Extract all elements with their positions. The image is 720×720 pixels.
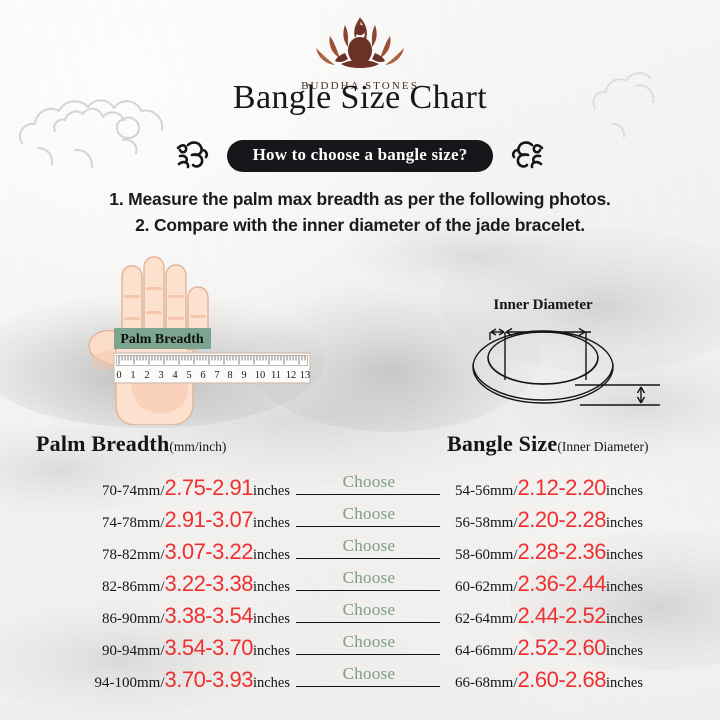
table-row: 56-58mm/2.20-2.28inches [447,504,717,536]
mm-range: 66-68mm/ [455,675,518,692]
choose-selector[interactable]: Choose [296,472,442,504]
size-label: 86-90mm/3.38-3.54inches [22,605,290,628]
mm-range: 74-78mm/ [102,515,165,532]
mm-range: 82-86mm/ [102,579,165,596]
choose-selector[interactable]: Choose [296,504,442,536]
inch-unit: inches [253,579,290,596]
bangle-size-header: Bangle Size(Inner Diameter) [447,431,648,457]
svg-text:Palm Breadth: Palm Breadth [120,332,204,347]
svg-text:14: 14 [314,370,315,381]
inch-range: 2.44-2.52 [518,605,606,627]
choose-selector[interactable]: Choose [296,536,442,568]
size-label: 62-64mm/2.44-2.52inches [455,605,643,628]
hand-palm-illustration: Palm Breadth 012 345 678 91011 121314 [60,255,315,425]
svg-text:5: 5 [186,370,191,381]
inch-range: 2.20-2.28 [518,509,606,531]
choose-underline [296,686,440,687]
inch-range: 3.70-3.93 [164,669,252,691]
table-row: 78-82mm/3.07-3.22inchesChoose [22,536,442,568]
inch-range: 2.28-2.36 [518,541,606,563]
bangle-ring-diagram: Inner Diameter [455,292,680,422]
svg-text:3: 3 [158,370,163,381]
subtitle-row: How to choose a bangle size? [0,136,720,176]
table-row: 66-68mm/2.60-2.68inches [447,664,717,696]
palm-breadth-header-main: Palm Breadth [36,431,169,456]
mm-range: 60-62mm/ [455,579,518,596]
size-label: 74-78mm/2.91-3.07inches [22,509,290,532]
inch-unit: inches [606,483,643,500]
svg-text:9: 9 [241,370,246,381]
size-label: 66-68mm/2.60-2.68inches [455,669,643,692]
lotus-meditation-logo-icon [301,12,419,74]
svg-text:13: 13 [300,370,311,381]
cloud-flourish-icon [172,136,214,176]
mm-range: 64-66mm/ [455,643,518,660]
mm-range: 78-82mm/ [102,547,165,564]
table-row: 94-100mm/3.70-3.93inchesChoose [22,664,442,696]
choose-label: Choose [343,632,396,652]
choose-selector[interactable]: Choose [296,600,442,632]
choose-underline [296,590,440,591]
table-row: 64-66mm/2.52-2.60inches [447,632,717,664]
choose-selector[interactable]: Choose [296,632,442,664]
table-row: 54-56mm/2.12-2.20inches [447,472,717,504]
inch-range: 3.07-3.22 [164,541,252,563]
cloud-flourish-icon-right [506,136,548,176]
inch-range: 2.12-2.20 [518,477,606,499]
size-label: 90-94mm/3.54-3.70inches [22,637,290,660]
inch-unit: inches [606,643,643,660]
palm-breadth-table: 70-74mm/2.75-2.91inchesChoose74-78mm/2.9… [22,472,442,696]
inch-unit: inches [253,643,290,660]
choose-selector[interactable]: Choose [296,664,442,696]
inner-diameter-caption: Inner Diameter [493,297,593,313]
size-label: 56-58mm/2.20-2.28inches [455,509,643,532]
choose-label: Choose [343,664,396,684]
mm-range: 62-64mm/ [455,611,518,628]
how-to-choose-pill: How to choose a bangle size? [227,140,494,172]
inch-unit: inches [253,483,290,500]
svg-text:11: 11 [271,370,281,381]
svg-text:6: 6 [200,370,205,381]
mm-range: 90-94mm/ [102,643,165,660]
size-label: 78-82mm/3.07-3.22inches [22,541,290,564]
palm-breadth-label: Palm Breadth [114,328,211,349]
mm-range: 86-90mm/ [102,611,165,628]
inch-range: 2.91-3.07 [164,509,252,531]
size-label: 60-62mm/2.36-2.44inches [455,573,643,596]
choose-underline [296,558,440,559]
svg-text:0: 0 [116,370,121,381]
bangle-size-header-main: Bangle Size [447,431,557,456]
palm-breadth-header-sub: (mm/inch) [169,439,226,454]
palm-breadth-header: Palm Breadth(mm/inch) [36,431,226,457]
inch-range: 2.52-2.60 [518,637,606,659]
size-chart-page: BUDDHA STONES Bangle Size Chart How to c… [0,0,720,720]
table-row: 58-60mm/2.28-2.36inches [447,536,717,568]
svg-text:10: 10 [255,370,266,381]
size-label: 82-86mm/3.22-3.38inches [22,573,290,596]
svg-text:12: 12 [286,370,297,381]
instruction-1: 1. Measure the palm max breadth as per t… [0,186,720,212]
choose-label: Choose [343,536,396,556]
inch-unit: inches [606,547,643,564]
size-label: 54-56mm/2.12-2.20inches [455,477,643,500]
instructions: 1. Measure the palm max breadth as per t… [0,186,720,238]
choose-underline [296,654,440,655]
inch-range: 3.22-3.38 [164,573,252,595]
page-title: Bangle Size Chart [0,79,720,117]
svg-text:2: 2 [144,370,149,381]
svg-text:4: 4 [172,370,178,381]
mm-range: 70-74mm/ [102,483,165,500]
inch-unit: inches [606,515,643,532]
inch-unit: inches [606,611,643,628]
inch-unit: inches [606,579,643,596]
ruler-icon: 012 345 678 91011 121314 [114,353,315,383]
mm-range: 56-58mm/ [455,515,518,532]
choose-selector[interactable]: Choose [296,568,442,600]
inch-range: 2.36-2.44 [518,573,606,595]
bangle-size-table: 54-56mm/2.12-2.20inches56-58mm/2.20-2.28… [447,472,717,696]
table-row: 86-90mm/3.38-3.54inchesChoose [22,600,442,632]
choose-label: Choose [343,504,396,524]
size-label: 58-60mm/2.28-2.36inches [455,541,643,564]
mm-range: 54-56mm/ [455,483,518,500]
mm-range: 58-60mm/ [455,547,518,564]
table-row: 90-94mm/3.54-3.70inchesChoose [22,632,442,664]
inch-unit: inches [253,675,290,692]
svg-text:8: 8 [227,370,232,381]
size-label: 64-66mm/2.52-2.60inches [455,637,643,660]
inch-unit: inches [253,515,290,532]
table-row: 60-62mm/2.36-2.44inches [447,568,717,600]
size-label: 70-74mm/2.75-2.91inches [22,477,290,500]
table-row: 62-64mm/2.44-2.52inches [447,600,717,632]
bangle-size-header-sub: (Inner Diameter) [557,439,648,454]
choose-underline [296,526,440,527]
svg-text:7: 7 [214,370,219,381]
inch-range: 3.38-3.54 [164,605,252,627]
inch-unit: inches [253,611,290,628]
inch-range: 2.75-2.91 [164,477,252,499]
svg-text:1: 1 [130,370,135,381]
table-row: 82-86mm/3.22-3.38inchesChoose [22,568,442,600]
choose-underline [296,622,440,623]
inch-unit: inches [253,547,290,564]
choose-label: Choose [343,568,396,588]
choose-label: Choose [343,472,396,492]
inch-unit: inches [606,675,643,692]
table-row: 70-74mm/2.75-2.91inchesChoose [22,472,442,504]
inch-range: 3.54-3.70 [164,637,252,659]
inch-range: 2.60-2.68 [518,669,606,691]
mm-range: 94-100mm/ [94,675,164,692]
size-label: 94-100mm/3.70-3.93inches [22,669,290,692]
choose-label: Choose [343,600,396,620]
instruction-2: 2. Compare with the inner diameter of th… [0,212,720,238]
choose-underline [296,494,440,495]
table-row: 74-78mm/2.91-3.07inchesChoose [22,504,442,536]
